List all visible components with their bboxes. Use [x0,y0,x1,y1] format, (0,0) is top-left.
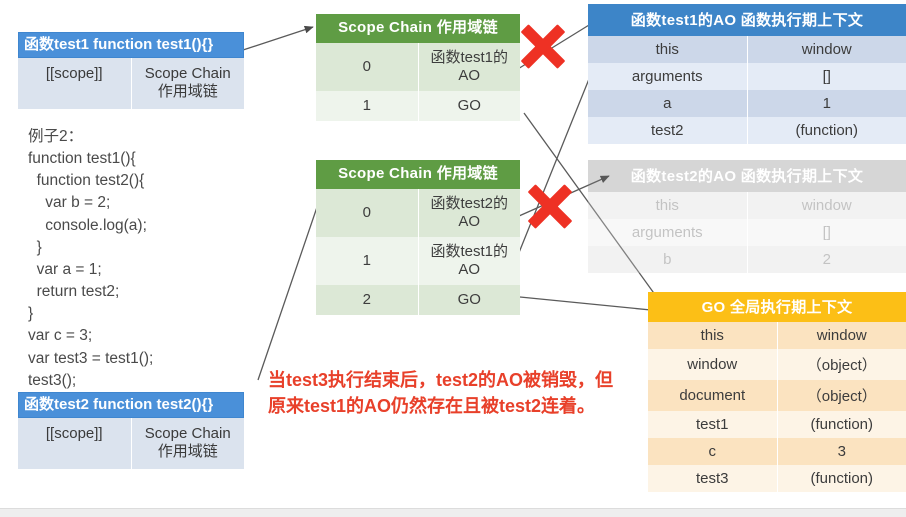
func-test1-scope-value-cn: 作用域链 [136,83,241,101]
go-value-3: (function) [777,411,906,438]
func-test2-scope-value: Scope Chain 作用域链 [132,418,245,469]
scope-chain-1-index-1: 1 [316,91,418,121]
scope-chain-2-index-0: 0 [316,189,418,237]
go-value-4: 3 [777,438,906,465]
go-key-2: document [648,380,777,411]
go-key-0: this [648,322,777,349]
table-row: 2 GO [316,285,520,315]
table-row: 0 函数test1的AO [316,43,520,91]
go-value-2: （object） [777,380,906,411]
ao-test1-value-2: 1 [747,90,906,117]
scope-chain-1-value-0: 函数test1的AO [418,43,520,91]
func-test2-scope-value-cn: 作用域链 [136,443,241,461]
table-row: 1 函数test1的AO [316,237,520,285]
x-mark-upper-icon [515,18,571,74]
ao-test1-value-1: [] [747,63,906,90]
func-test1-scope-row: [[scope]] Scope Chain 作用域链 [18,58,244,109]
arrow-sc2-row2-to-go [520,297,661,311]
table-row: arguments [] [588,219,906,246]
scope-chain-1-index-0: 0 [316,43,418,91]
table-row: 0 函数test2的AO [316,189,520,237]
scope-chain-table-2: Scope Chain 作用域链 0 函数test2的AO 1 函数test1的… [316,160,520,315]
go-value-5: (function) [777,465,906,492]
table-row: window （object） [648,349,906,380]
func-test2-header: 函数test2 function test2(){} [18,392,244,418]
go-key-3: test1 [648,411,777,438]
x-mark-lower-icon [522,178,578,234]
func-test1-header: 函数test1 function test1(){} [18,32,244,58]
arrow-test1box-to-scopechain1 [243,27,313,50]
go-title: GO 全局执行期上下文 [648,292,906,322]
annotation-note: 当test3执行结束后，test2的AO被销毁，但原来test1的AO仍然存在且… [268,368,618,419]
scope-chain-2-value-1: 函数test1的AO [418,237,520,285]
table-row: this window [648,322,906,349]
table-row: test1 (function) [648,411,906,438]
ao-test2-key-2: b [588,246,747,273]
go-value-0: window [777,322,906,349]
table-row: 1 GO [316,91,520,121]
table-row: b 2 [588,246,906,273]
scope-chain-1-value-1: GO [418,91,520,121]
table-row: document （object） [648,380,906,411]
table-row: arguments [] [588,63,906,90]
go-key-5: test3 [648,465,777,492]
func-test2-scope-row: [[scope]] Scope Chain 作用域链 [18,418,244,469]
func-test1-scope-value: Scope Chain 作用域链 [132,58,245,109]
table-row: this window [588,192,906,219]
go-value-1: （object） [777,349,906,380]
func-test2-scope-value-en: Scope Chain [136,425,241,443]
ao-test1-key-3: test2 [588,117,747,144]
ao-test1-key-0: this [588,36,747,63]
func-test1-box: 函数test1 function test1(){} [[scope]] Sco… [18,32,244,109]
diagram-canvas: 函数test1 function test1(){} [[scope]] Sco… [0,0,906,516]
go-table: GO 全局执行期上下文 this window window （object） … [648,292,906,492]
ao-test2-key-1: arguments [588,219,747,246]
func-test2-box: 函数test2 function test2(){} [[scope]] Sco… [18,392,244,469]
scope-chain-2-index-1: 1 [316,237,418,285]
scope-chain-2-title: Scope Chain 作用域链 [316,160,520,189]
scope-chain-2-value-2: GO [418,285,520,315]
ao-test1-value-0: window [747,36,906,63]
code-block: 例子2： function test1(){ function test2(){… [28,126,278,392]
ao-test2-value-2: 2 [747,246,906,273]
scope-chain-table-1: Scope Chain 作用域链 0 函数test1的AO 1 GO [316,14,520,121]
table-row: this window [588,36,906,63]
table-row: test3 (function) [648,465,906,492]
func-test2-scope-key: [[scope]] [18,418,132,469]
ao-test1-value-3: (function) [747,117,906,144]
ao-test1-key-1: arguments [588,63,747,90]
table-row: test2 (function) [588,117,906,144]
ao-test2-value-0: window [747,192,906,219]
scope-chain-1-title: Scope Chain 作用域链 [316,14,520,43]
ao-test1-title: 函数test1的AO 函数执行期上下文 [588,4,906,36]
ao-test2-key-0: this [588,192,747,219]
ao-test2-title: 函数test2的AO 函数执行期上下文 [588,160,906,192]
table-row: a 1 [588,90,906,117]
ao-test2-table-destroyed: 函数test2的AO 函数执行期上下文 this window argument… [588,160,906,273]
ao-test1-key-2: a [588,90,747,117]
ao-test1-table: 函数test1的AO 函数执行期上下文 this window argument… [588,4,906,144]
go-key-1: window [648,349,777,380]
func-test1-scope-key: [[scope]] [18,58,132,109]
ao-test2-value-1: [] [747,219,906,246]
scope-chain-2-value-0: 函数test2的AO [418,189,520,237]
scope-chain-2-index-2: 2 [316,285,418,315]
go-key-4: c [648,438,777,465]
func-test1-scope-value-en: Scope Chain [136,65,241,83]
table-row: c 3 [648,438,906,465]
